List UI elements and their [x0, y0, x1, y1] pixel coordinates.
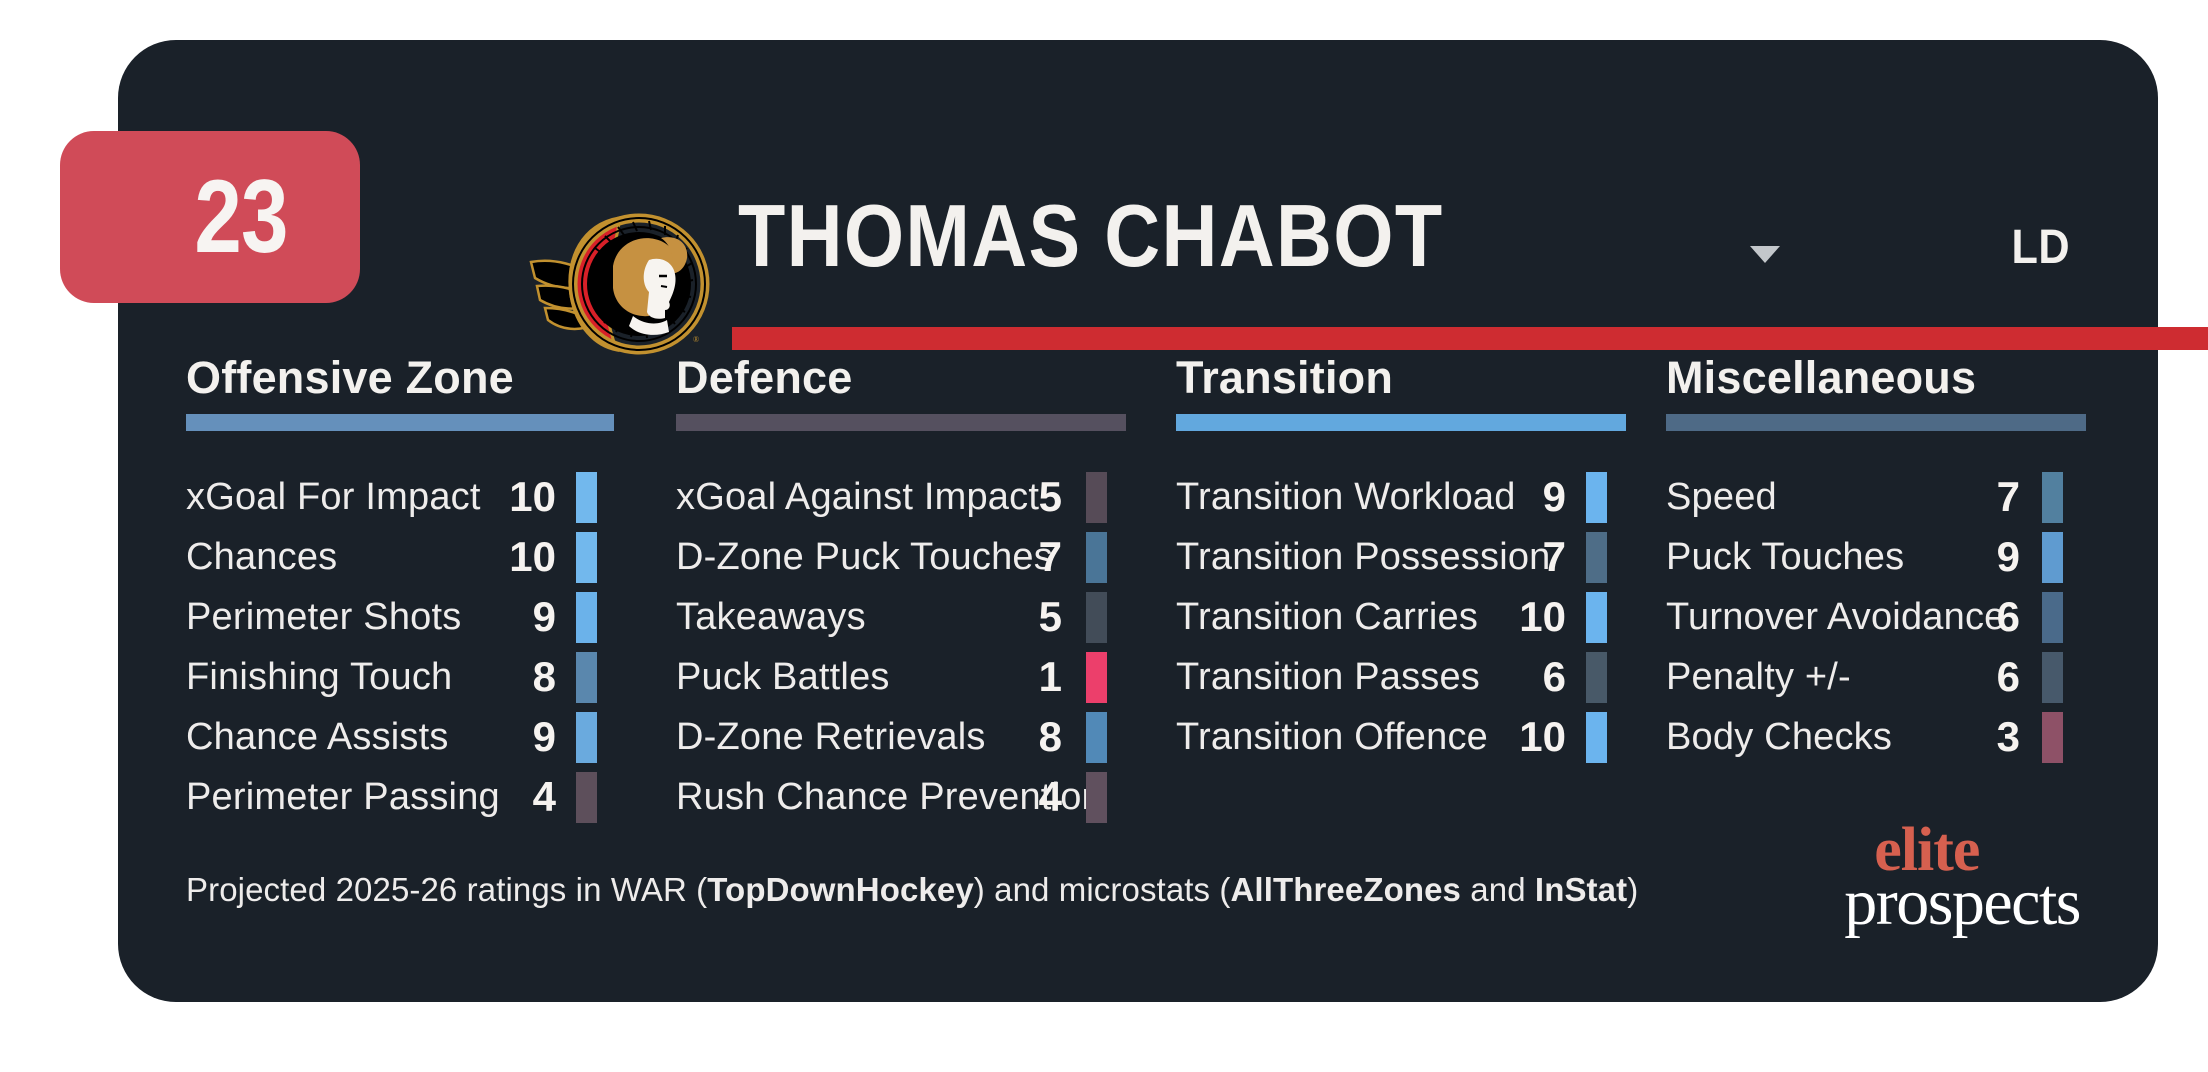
- stat-rating-swatch: [2042, 652, 2063, 703]
- stat-label: Chances: [186, 538, 486, 576]
- data-sources-note: Projected 2025-26 ratings in WAR (TopDow…: [186, 873, 1638, 906]
- stat-label: Penalty +/-: [1666, 658, 1966, 696]
- note-source-instat: InStat: [1535, 871, 1627, 908]
- column-color-bar: [676, 414, 1126, 431]
- stat-label: Body Checks: [1666, 718, 1966, 756]
- stat-rating-swatch: [1586, 652, 1607, 703]
- stat-rating-swatch: [576, 772, 597, 823]
- stat-row: Perimeter Passing 4: [186, 767, 676, 827]
- stat-label: Chance Assists: [186, 718, 486, 756]
- stat-rating-swatch: [1086, 532, 1107, 583]
- stat-value: 6: [1966, 656, 2020, 698]
- stat-row: Rush Chance Prevention 4: [676, 767, 1176, 827]
- stat-rating-swatch: [1086, 772, 1107, 823]
- stat-value: 5: [1006, 476, 1062, 518]
- stat-value: 1: [1006, 656, 1062, 698]
- stat-rating-swatch: [1586, 592, 1607, 643]
- stat-value: 10: [1496, 596, 1566, 638]
- logo-word-prospects: prospects: [1844, 876, 2080, 930]
- stat-label: Takeaways: [676, 598, 1006, 636]
- stat-rating-swatch: [1586, 472, 1607, 523]
- stat-label: xGoal Against Impact: [676, 478, 1006, 516]
- player-position-label: LD: [2012, 220, 2070, 275]
- stat-value: 10: [486, 476, 556, 518]
- stat-row: Chances 10: [186, 527, 676, 587]
- stat-row: Takeaways 5: [676, 587, 1176, 647]
- column-title: Transition: [1176, 355, 1666, 400]
- stat-value: 10: [486, 536, 556, 578]
- note-text-3: and: [1461, 871, 1535, 908]
- stat-label: Finishing Touch: [186, 658, 486, 696]
- stat-value: 6: [1496, 656, 1566, 698]
- stat-value: 7: [1006, 536, 1062, 578]
- stat-row: Puck Battles 1: [676, 647, 1176, 707]
- stat-value: 4: [1006, 776, 1062, 818]
- stat-rating-swatch: [576, 532, 597, 583]
- note-source-topdownhockey: TopDownHockey: [707, 871, 974, 908]
- stat-label: D-Zone Retrievals: [676, 718, 1006, 756]
- stat-row: Transition Offence 10: [1176, 707, 1666, 767]
- stat-rating-swatch: [576, 592, 597, 643]
- stat-rating-swatch: [1586, 712, 1607, 763]
- column-title: Offensive Zone: [186, 355, 676, 400]
- note-source-allthreezones: AllThreeZones: [1231, 871, 1462, 908]
- stat-label: Rush Chance Prevention: [676, 778, 1006, 816]
- stat-row: D-Zone Retrievals 8: [676, 707, 1176, 767]
- stat-rating-swatch: [2042, 592, 2063, 643]
- column-color-bar: [186, 414, 614, 431]
- stat-column-defence: Defence xGoal Against Impact 5 D-Zone Pu…: [676, 355, 1176, 827]
- stat-value: 3: [1966, 716, 2020, 758]
- stat-row: Body Checks 3: [1666, 707, 2116, 767]
- stat-value: 7: [1966, 476, 2020, 518]
- stat-rating-swatch: [1586, 532, 1607, 583]
- stat-value: 9: [1966, 536, 2020, 578]
- stat-row: Turnover Avoidance 6: [1666, 587, 2116, 647]
- column-title: Miscellaneous: [1666, 355, 2116, 400]
- team-accent-bar: [732, 327, 2208, 350]
- stat-label: Transition Workload: [1176, 478, 1496, 516]
- stat-rating-swatch: [1086, 712, 1107, 763]
- stat-rating-swatch: [576, 712, 597, 763]
- player-card-stage: 23: [0, 0, 2208, 1072]
- stat-row: Penalty +/- 6: [1666, 647, 2116, 707]
- svg-text:®: ®: [693, 335, 699, 344]
- stat-row: Perimeter Shots 9: [186, 587, 676, 647]
- stat-value: 8: [1006, 716, 1062, 758]
- stat-rating-swatch: [576, 652, 597, 703]
- stat-column-transition: Transition Transition Workload 9 Transit…: [1176, 355, 1666, 827]
- stat-row: xGoal Against Impact 5: [676, 467, 1176, 527]
- stat-label: Transition Carries: [1176, 598, 1496, 636]
- elite-prospects-logo: elite prospects: [1844, 825, 2080, 930]
- stat-column-miscellaneous: Miscellaneous Speed 7 Puck Touches 9 Tur…: [1666, 355, 2116, 827]
- stat-row: Chance Assists 9: [186, 707, 676, 767]
- stat-columns: Offensive Zone xGoal For Impact 10 Chanc…: [118, 355, 2158, 827]
- chevron-down-icon[interactable]: [1748, 243, 1782, 265]
- stat-label: Perimeter Passing: [186, 778, 486, 816]
- stat-value: 4: [486, 776, 556, 818]
- stat-row: Transition Passes 6: [1176, 647, 1666, 707]
- stat-value: 9: [1496, 476, 1566, 518]
- stat-row: Transition Carries 10: [1176, 587, 1666, 647]
- stat-row: Transition Workload 9: [1176, 467, 1666, 527]
- stat-value: 7: [1496, 536, 1566, 578]
- stat-value: 9: [486, 596, 556, 638]
- stat-row: Speed 7: [1666, 467, 2116, 527]
- card-header: 23: [118, 40, 2158, 320]
- stat-row: Transition Possession 7: [1176, 527, 1666, 587]
- stat-value: 5: [1006, 596, 1062, 638]
- column-title: Defence: [676, 355, 1176, 400]
- note-text-2: ) and microstats (: [974, 871, 1231, 908]
- stat-value: 8: [486, 656, 556, 698]
- stat-row: Finishing Touch 8: [186, 647, 676, 707]
- stat-label: Turnover Avoidance: [1666, 598, 1966, 636]
- stat-rating-swatch: [1086, 592, 1107, 643]
- player-stat-card: 23: [118, 40, 2158, 1002]
- stat-label: xGoal For Impact: [186, 478, 486, 516]
- stat-label: Speed: [1666, 478, 1966, 516]
- player-name: Thomas Chabot: [738, 192, 1443, 280]
- column-color-bar: [1176, 414, 1626, 431]
- stat-rating-swatch: [2042, 712, 2063, 763]
- stat-label: Puck Battles: [676, 658, 1006, 696]
- stat-rating-swatch: [2042, 532, 2063, 583]
- jersey-number: 23: [195, 165, 288, 269]
- note-text-4: ): [1627, 871, 1638, 908]
- stat-label: Transition Possession: [1176, 538, 1496, 576]
- stat-row: Puck Touches 9: [1666, 527, 2116, 587]
- jersey-number-badge: 23: [60, 131, 360, 303]
- stat-rating-swatch: [1086, 472, 1107, 523]
- column-color-bar: [1666, 414, 2086, 431]
- stat-value: 9: [486, 716, 556, 758]
- stat-label: Transition Passes: [1176, 658, 1496, 696]
- stat-rating-swatch: [2042, 472, 2063, 523]
- stat-label: Perimeter Shots: [186, 598, 486, 636]
- note-text-1: Projected 2025-26 ratings in WAR (: [186, 871, 707, 908]
- stat-label: D-Zone Puck Touches: [676, 538, 1006, 576]
- stat-rating-swatch: [1086, 652, 1107, 703]
- stat-label: Puck Touches: [1666, 538, 1966, 576]
- stat-value: 6: [1966, 596, 2020, 638]
- stat-row: D-Zone Puck Touches 7: [676, 527, 1176, 587]
- stat-column-offensive-zone: Offensive Zone xGoal For Impact 10 Chanc…: [186, 355, 676, 827]
- stat-label: Transition Offence: [1176, 718, 1496, 756]
- stat-value: 10: [1496, 716, 1566, 758]
- stat-rating-swatch: [576, 472, 597, 523]
- ottawa-senators-logo-icon: ®: [521, 200, 711, 360]
- stat-row: xGoal For Impact 10: [186, 467, 676, 527]
